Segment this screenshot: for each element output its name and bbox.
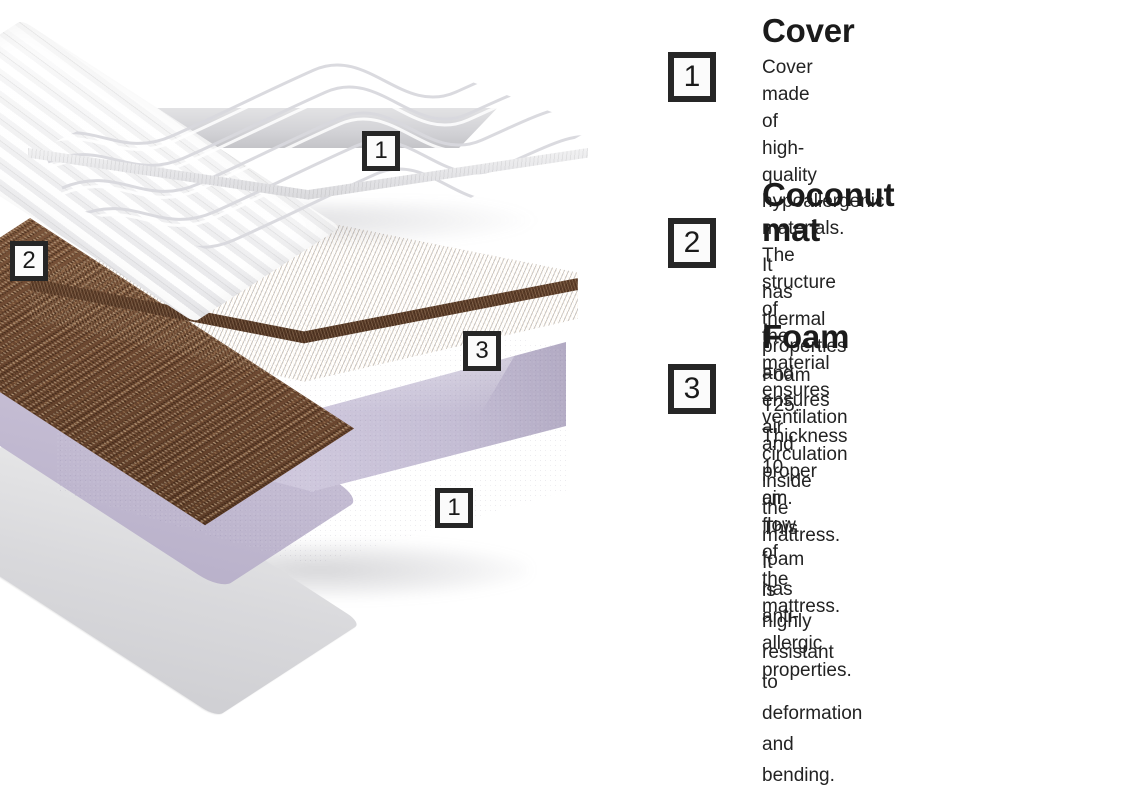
coconut-marker: 2 bbox=[10, 241, 48, 281]
legend-badge-2: 2 bbox=[668, 218, 716, 268]
cover-layer bbox=[22, 20, 594, 320]
foam-marker: 3 bbox=[463, 331, 501, 371]
legend-badge-1: 1 bbox=[668, 52, 716, 102]
cover-marker: 1 bbox=[362, 131, 400, 171]
legend-panel: 1 Cover Cover made of high-quality hypoa… bbox=[655, 0, 1146, 630]
exploded-mattress-illustration: 1 2 3 1 bbox=[0, 0, 650, 630]
legend-badge-3: 3 bbox=[668, 364, 716, 414]
base-marker: 1 bbox=[435, 488, 473, 528]
mattress-layers-infographic: 1 2 3 1 1 Cover Cover made of high-quali… bbox=[0, 0, 1146, 630]
